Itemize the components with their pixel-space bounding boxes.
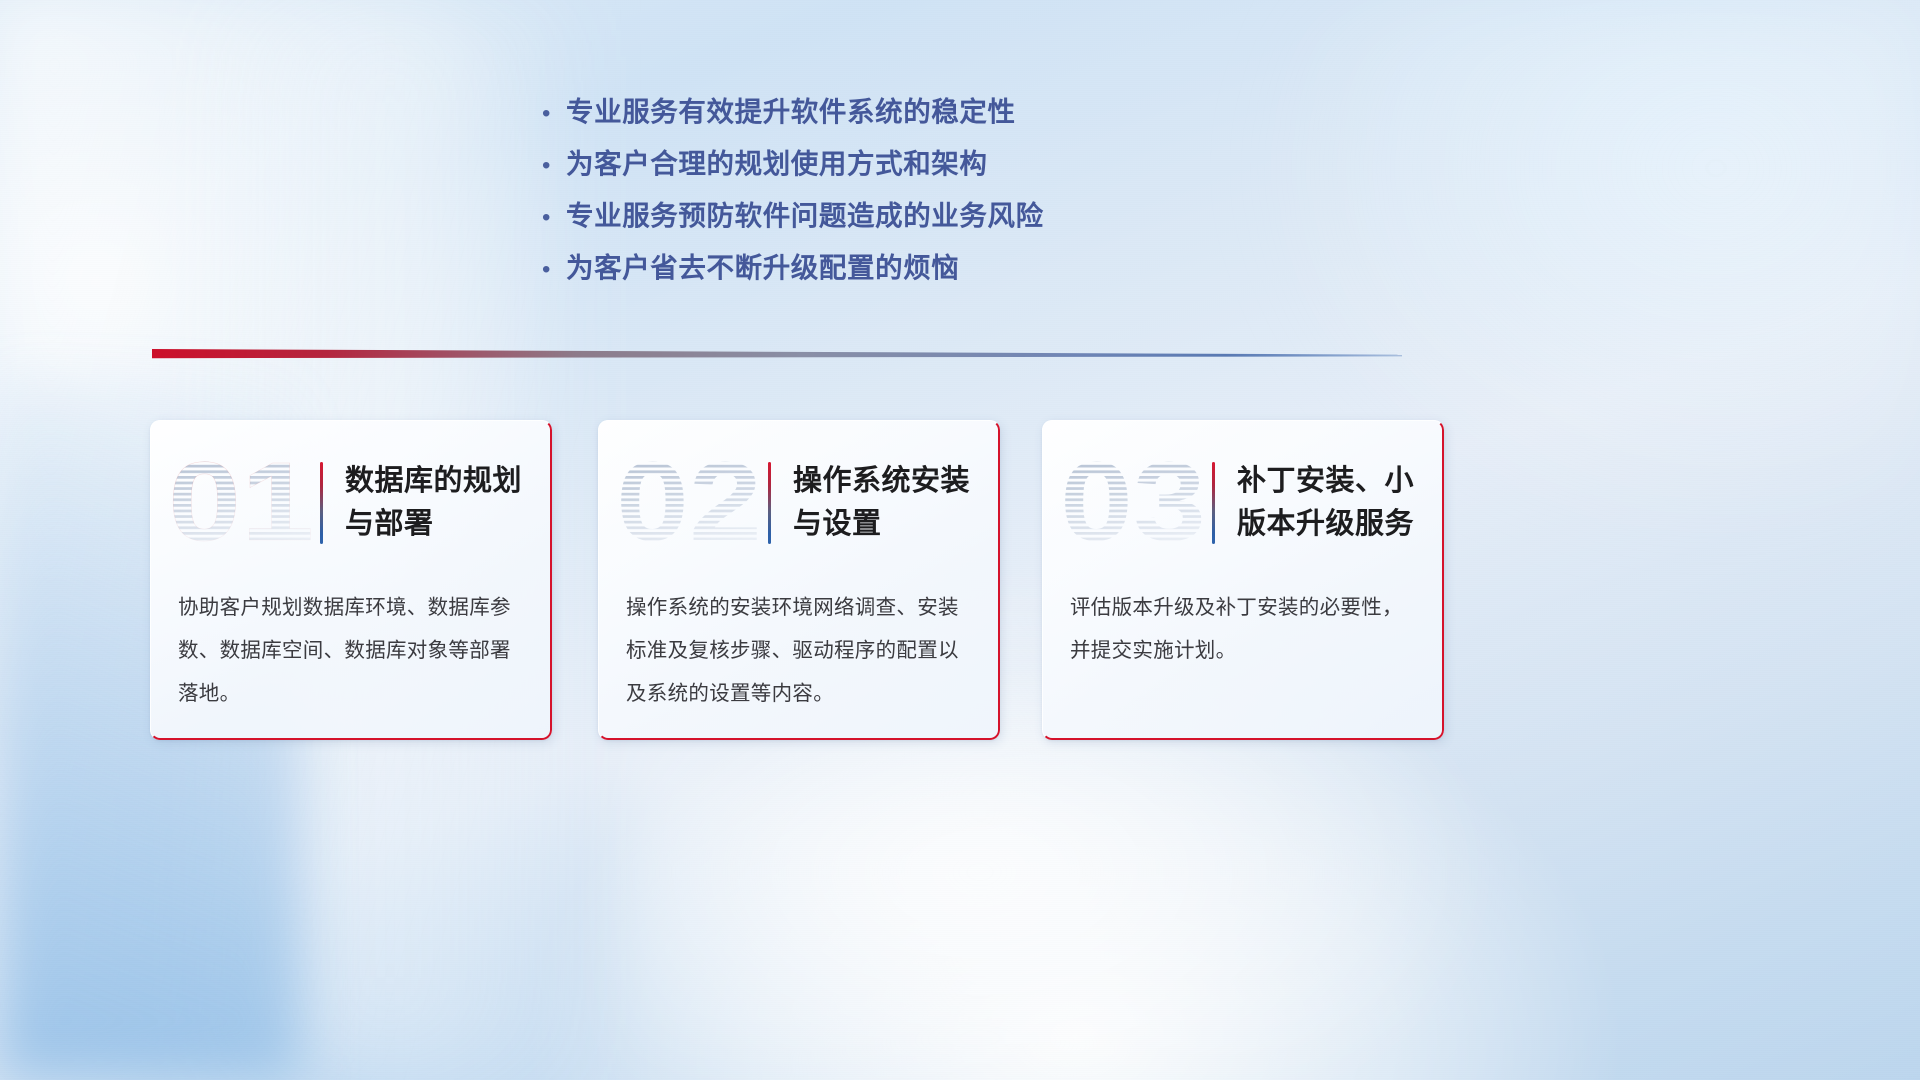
service-card-deck: 01 01 数据库的规划与部署 协助客户规划数据库环境、数据库参数、数据库空间、… [150, 420, 1460, 742]
card-title-divider [768, 462, 771, 544]
card-number-graphic: 01 01 [168, 448, 320, 558]
card-title: 数据库的规划与部署 [345, 460, 552, 546]
list-item: • 为客户合理的规划使用方式和架构 [536, 138, 1296, 190]
card-header: 01 01 数据库的规划与部署 [150, 434, 552, 572]
card-header: 02 操作系统安装与设置 [598, 434, 1000, 572]
list-item: • 专业服务有效提升软件系统的稳定性 [536, 86, 1296, 138]
list-item: • 专业服务预防软件问题造成的业务风险 [536, 190, 1296, 242]
divider-shape-icon [152, 346, 1402, 362]
service-card[interactable]: 03 补丁安装、小版本升级服务 评估版本升级及补丁安装的必要性，并提交实施计划。 [1042, 420, 1444, 740]
card-number-graphic: 02 [616, 448, 768, 558]
numeral-02: 02 [616, 448, 762, 558]
bullet-marker-icon: • [536, 102, 566, 126]
card-title: 操作系统安装与设置 [793, 460, 1000, 546]
striped-numeral-icon: 03 [1060, 448, 1212, 558]
card-body-text: 协助客户规划数据库环境、数据库参数、数据库空间、数据库对象等部署落地。 [178, 586, 528, 715]
striped-numeral-icon: 01 01 [168, 448, 320, 558]
numeral-03: 03 [1060, 448, 1206, 558]
card-number-graphic: 03 [1060, 448, 1212, 558]
bullet-text: 专业服务有效提升软件系统的稳定性 [566, 86, 1016, 138]
card-body-text: 操作系统的安装环境网络调查、安装标准及复核步骤、驱动程序的配置以及系统的设置等内… [626, 586, 976, 715]
bullet-text: 为客户省去不断升级配置的烦恼 [566, 242, 959, 294]
card-header: 03 补丁安装、小版本升级服务 [1042, 434, 1444, 572]
benefits-bullet-list: • 专业服务有效提升软件系统的稳定性 • 为客户合理的规划使用方式和架构 • 专… [536, 86, 1296, 294]
bullet-marker-icon: • [536, 258, 566, 282]
section-divider-rule [152, 346, 1402, 362]
bullet-marker-icon: • [536, 154, 566, 178]
card-title: 补丁安装、小版本升级服务 [1237, 460, 1444, 546]
svg-text:01: 01 [168, 448, 314, 558]
bullet-text: 为客户合理的规划使用方式和架构 [566, 138, 988, 190]
card-body-text: 评估版本升级及补丁安装的必要性，并提交实施计划。 [1070, 586, 1420, 672]
card-title-divider [1212, 462, 1215, 544]
striped-numeral-icon: 02 [616, 448, 768, 558]
bullet-marker-icon: • [536, 206, 566, 230]
list-item: • 为客户省去不断升级配置的烦恼 [536, 242, 1296, 294]
service-card[interactable]: 01 01 数据库的规划与部署 协助客户规划数据库环境、数据库参数、数据库空间、… [150, 420, 552, 740]
bullet-text: 专业服务预防软件问题造成的业务风险 [566, 190, 1044, 242]
card-title-divider [320, 462, 323, 544]
service-card[interactable]: 02 操作系统安装与设置 操作系统的安装环境网络调查、安装标准及复核步骤、驱动程… [598, 420, 1000, 740]
